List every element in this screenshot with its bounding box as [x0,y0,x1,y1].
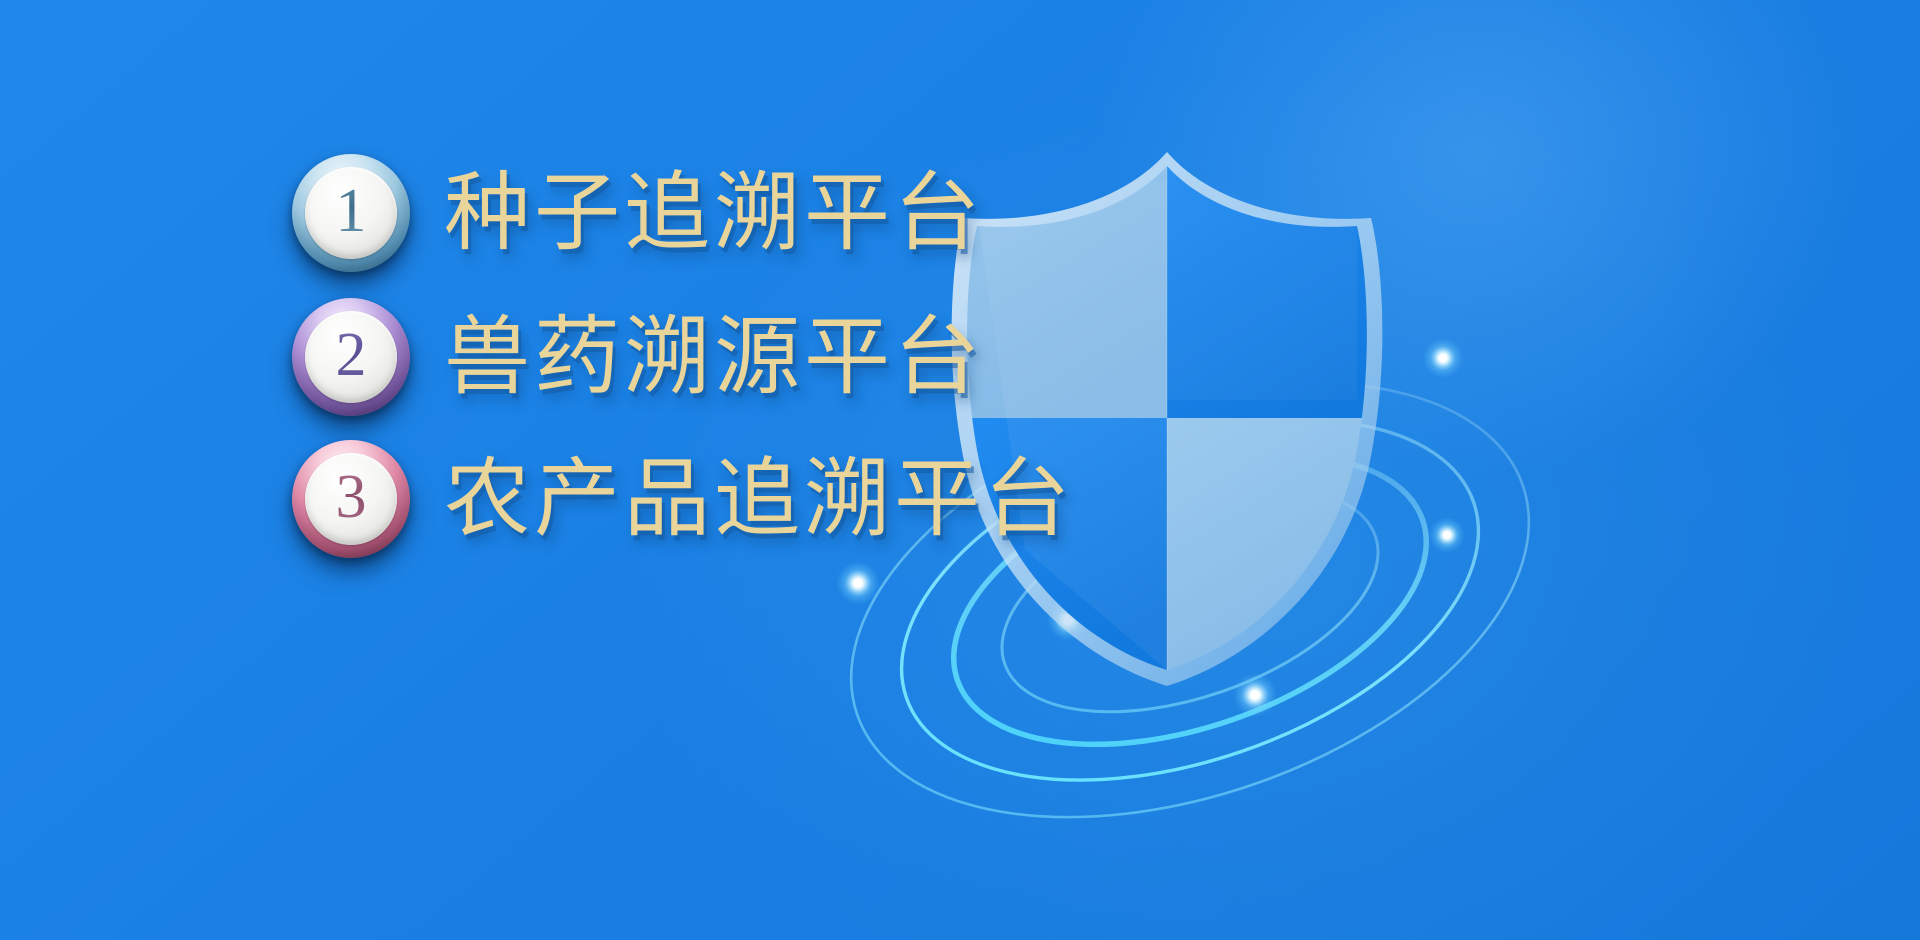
badge-inner: 1 [305,167,397,259]
badge-inner: 3 [305,453,397,545]
badge-three-agriproduct[interactable]: 3 [292,440,410,558]
badge-number: 2 [336,324,367,386]
list-item[interactable]: 1 种子追溯平台 [292,148,984,278]
platform-title-seed: 种子追溯平台 [444,170,984,256]
list-item[interactable]: 3 农产品追溯平台 [292,434,1074,564]
badge-one-seed[interactable]: 1 [292,154,410,272]
banner-stage: 1 种子追溯平台 2 兽药溯源平台 3 农产品追溯平台 [0,0,1920,940]
badge-number: 1 [336,180,367,242]
badge-two-veterinary[interactable]: 2 [292,298,410,416]
platform-title-veterinary: 兽药溯源平台 [444,314,984,400]
list-item[interactable]: 2 兽药溯源平台 [292,292,984,422]
badge-inner: 2 [305,311,397,403]
platform-list: 1 种子追溯平台 2 兽药溯源平台 3 农产品追溯平台 [0,0,1000,940]
badge-number: 3 [336,466,367,528]
platform-title-agriproduct: 农产品追溯平台 [444,456,1074,542]
